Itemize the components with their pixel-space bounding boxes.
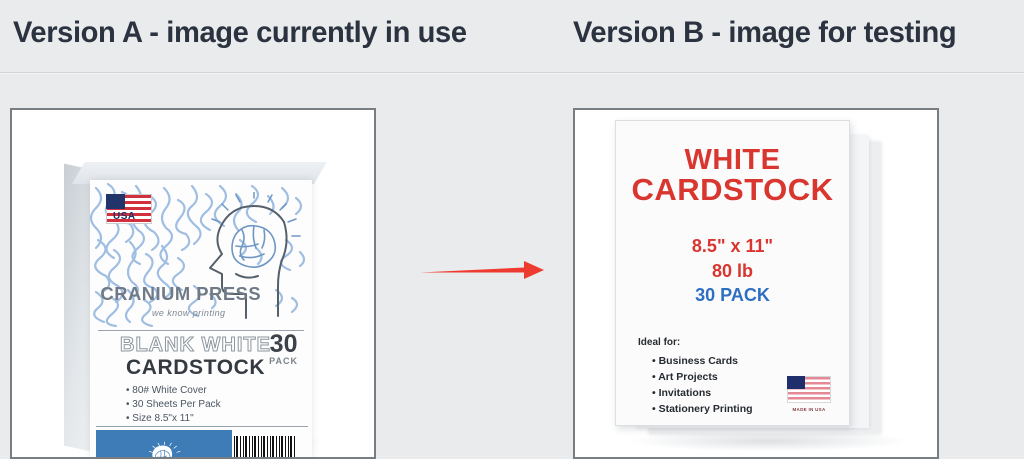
version-a-heading: Version A - image currently in use: [13, 16, 467, 50]
box-blue-band: CRANIUM PRESS we know printing: [96, 430, 232, 458]
box-feature-item: 80# White Cover: [126, 384, 221, 398]
box-divider-rule-2: [96, 426, 308, 427]
box-feature-item: Size 8.5"x 11": [126, 412, 221, 426]
box-pack-label: PACK: [269, 356, 298, 366]
ream-spec-pack: 30 PACK: [616, 285, 849, 306]
box-title-line2: CARDSTOCK: [126, 356, 265, 380]
box-brand-name: CRANIUM PRESS: [100, 284, 261, 305]
ream-title-line1: WHITE: [616, 145, 849, 175]
box-brand-tagline: we know printing: [152, 308, 225, 318]
box-feature-list: 80# White Cover 30 Sheets Per Pack Size …: [126, 384, 221, 426]
header-divider: [0, 72, 1024, 73]
ideal-for-item: Stationery Printing: [652, 401, 753, 417]
comparison-page: Version A - image currently in use Versi…: [0, 0, 1024, 459]
ream-shadow: [631, 431, 907, 451]
version-a-image-panel[interactable]: USA: [10, 108, 376, 459]
head-brain-outline-icon: [196, 192, 308, 326]
cardstock-ream-illustration: WHITE CARDSTOCK 8.5" x 11" 80 lb 30 PACK…: [575, 110, 937, 457]
version-b-image-panel[interactable]: WHITE CARDSTOCK 8.5" x 11" 80 lb 30 PACK…: [573, 108, 939, 459]
barcode-icon: [234, 436, 296, 458]
ideal-for-list: Business Cards Art Projects Invitations …: [652, 353, 753, 417]
ream-title-line2: CARDSTOCK: [616, 175, 849, 205]
box-front-face: USA: [90, 180, 312, 458]
flag-usa-label: USA: [113, 211, 136, 222]
cardstock-box-illustration: USA: [12, 110, 374, 457]
ream-front-label: WHITE CARDSTOCK 8.5" x 11" 80 lb 30 PACK…: [615, 120, 850, 426]
band-head-brain-icon: [142, 432, 212, 458]
made-in-usa-caption: MADE IN USA: [787, 407, 831, 412]
usa-flag-icon: [787, 376, 831, 403]
usa-flag-badge-icon: USA: [106, 194, 152, 224]
ideal-for-label: Ideal for:: [638, 337, 680, 348]
box-title-line1: BLANK WHITE: [120, 334, 271, 357]
red-right-arrow-icon: [420, 255, 545, 285]
ream-spec-size: 8.5" x 11": [616, 236, 849, 257]
version-b-heading: Version B - image for testing: [573, 16, 956, 50]
ream-spec-weight: 80 lb: [616, 261, 849, 282]
flag-canton: [787, 376, 805, 389]
ideal-for-item: Invitations: [652, 385, 753, 401]
ideal-for-item: Business Cards: [652, 353, 753, 369]
box-pack-count-badge: 30 PACK: [269, 332, 298, 366]
ideal-for-item: Art Projects: [652, 369, 753, 385]
box-feature-item: 30 Sheets Per Pack: [126, 398, 221, 412]
flag-canton: [106, 194, 125, 209]
box-pack-count: 30: [269, 332, 298, 356]
